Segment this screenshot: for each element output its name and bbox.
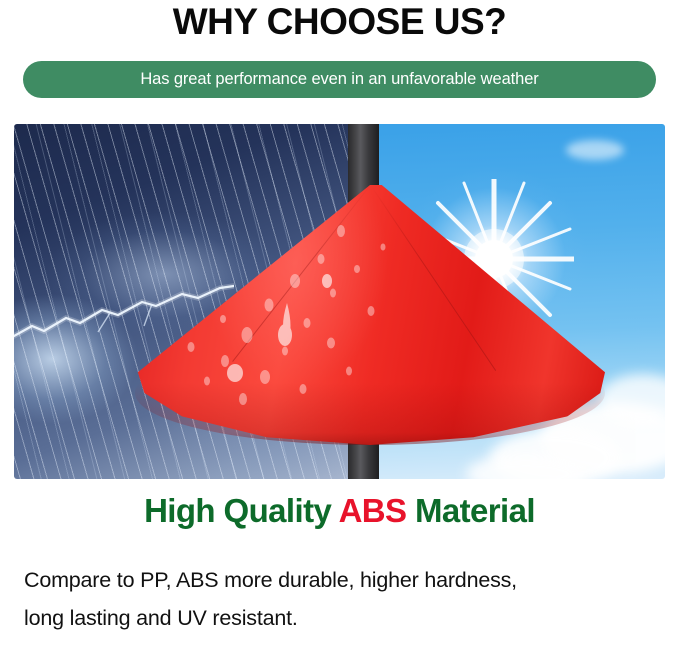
body-copy-line-2: long lasting and UV resistant. bbox=[24, 599, 664, 637]
product-photo bbox=[14, 124, 665, 479]
feature-banner: Has great performance even in an unfavor… bbox=[23, 61, 656, 98]
water-droplets bbox=[135, 185, 605, 445]
sub-headline-part2: Material bbox=[406, 492, 535, 529]
body-copy-line-1: Compare to PP, ABS more durable, higher … bbox=[24, 561, 664, 599]
sub-headline-part1: High Quality bbox=[144, 492, 339, 529]
sub-headline-highlight: ABS bbox=[339, 492, 407, 529]
sub-headline: High Quality ABS Material bbox=[0, 491, 679, 531]
page-title: WHY CHOOSE US? bbox=[0, 0, 679, 44]
feature-banner-label: Has great performance even in an unfavor… bbox=[140, 70, 538, 89]
body-copy: Compare to PP, ABS more durable, higher … bbox=[24, 561, 664, 637]
abs-cone-baffle bbox=[135, 185, 605, 445]
cloud-shape bbox=[566, 140, 624, 160]
